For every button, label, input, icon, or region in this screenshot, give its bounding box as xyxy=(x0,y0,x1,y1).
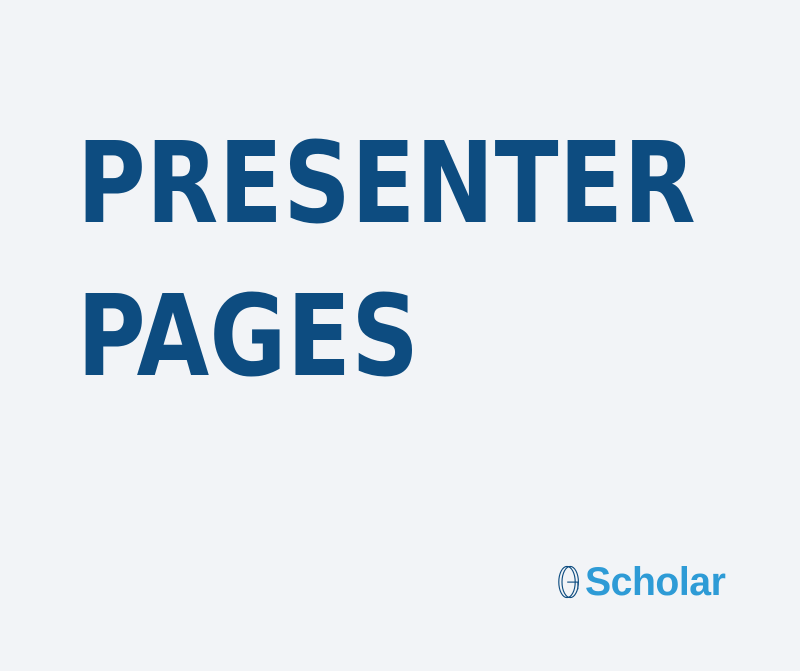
page-title-line-2: PAGES xyxy=(77,261,691,414)
page-title-line-1: PRESENTER xyxy=(77,108,691,261)
page-title: PRESENTER PAGES xyxy=(77,108,737,414)
scholar-logo: Scholar xyxy=(556,562,728,602)
scholar-wordmark: Scholar xyxy=(585,562,725,602)
scholar-globe-g-icon xyxy=(556,565,583,599)
presenter-pages-slide: PRESENTER PAGES Scholar xyxy=(0,0,800,671)
